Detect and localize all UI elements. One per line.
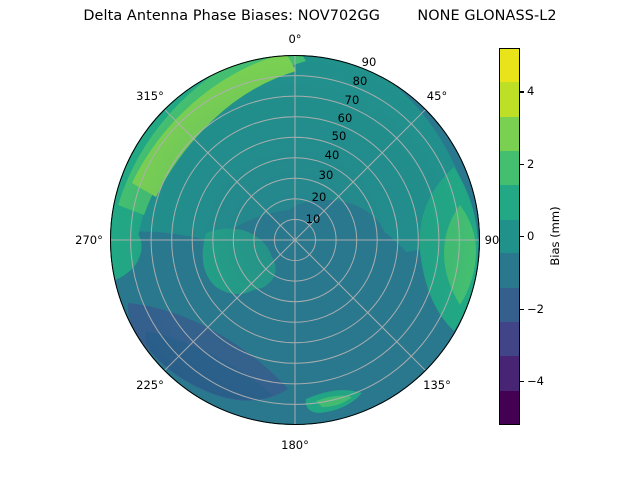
colorbar-band: [499, 117, 520, 151]
theta-ticklabel-90: 90: [485, 233, 500, 247]
r-ticklabel-80: 80: [353, 74, 368, 88]
theta-ticklabel-315: 315°: [136, 89, 164, 103]
theta-ticklabel-45: 45°: [427, 89, 447, 103]
polar-plot: [110, 55, 480, 425]
polar-data-area: [110, 55, 480, 425]
colorbar-band: [499, 220, 520, 254]
theta-ticklabel-270: 270°: [75, 233, 103, 247]
colorbar-ticklabel-4: 4: [527, 84, 534, 98]
colorbar-band: [499, 48, 520, 82]
colorbar-gradient: [499, 48, 520, 425]
theta-ticklabel-180: 180°: [281, 438, 309, 452]
colorbar-band: [499, 356, 520, 390]
colorbar-tick-m4: [520, 381, 524, 382]
r-ticklabel-40: 40: [325, 148, 340, 162]
colorbar-tick-m2: [520, 309, 524, 310]
r-ticklabel-30: 30: [319, 168, 334, 182]
colorbar-ticklabel-2: 2: [527, 157, 534, 171]
colorbar-ticklabel-0: 0: [527, 229, 534, 243]
colorbar-band: [499, 151, 520, 185]
r-ticklabel-50: 50: [332, 129, 347, 143]
colorbar-band: [499, 288, 520, 322]
colorbar-band: [499, 391, 520, 426]
colorbar-tick-2: [520, 164, 524, 165]
colorbar-band: [499, 322, 520, 356]
r-ticklabel-90: 90: [362, 55, 377, 69]
colorbar-band: [499, 253, 520, 287]
contour-field: [110, 55, 480, 425]
colorbar-tick-0: [520, 236, 524, 237]
colorbar-band: [499, 82, 520, 116]
r-ticklabel-20: 20: [312, 190, 327, 204]
colorbar-band: [499, 185, 520, 219]
bias-colorbar: 4 2 0 −2 −4: [499, 48, 520, 425]
colorbar-tick-4: [520, 91, 524, 92]
theta-ticklabel-135: 135°: [423, 378, 451, 392]
colorbar-ticklabel-m4: −4: [527, 374, 544, 388]
theta-ticklabel-0: 0°: [288, 32, 301, 46]
colorbar-ticklabel-m2: −2: [527, 302, 544, 316]
colorbar-axis-label: Bias (mm): [548, 206, 562, 265]
r-ticklabel-70: 70: [345, 93, 360, 107]
r-ticklabel-60: 60: [338, 111, 353, 125]
page-title: Delta Antenna Phase Biases: NOV702GG NON…: [0, 8, 640, 24]
r-ticklabel-10: 10: [306, 212, 321, 226]
theta-ticklabel-225: 225°: [136, 378, 164, 392]
